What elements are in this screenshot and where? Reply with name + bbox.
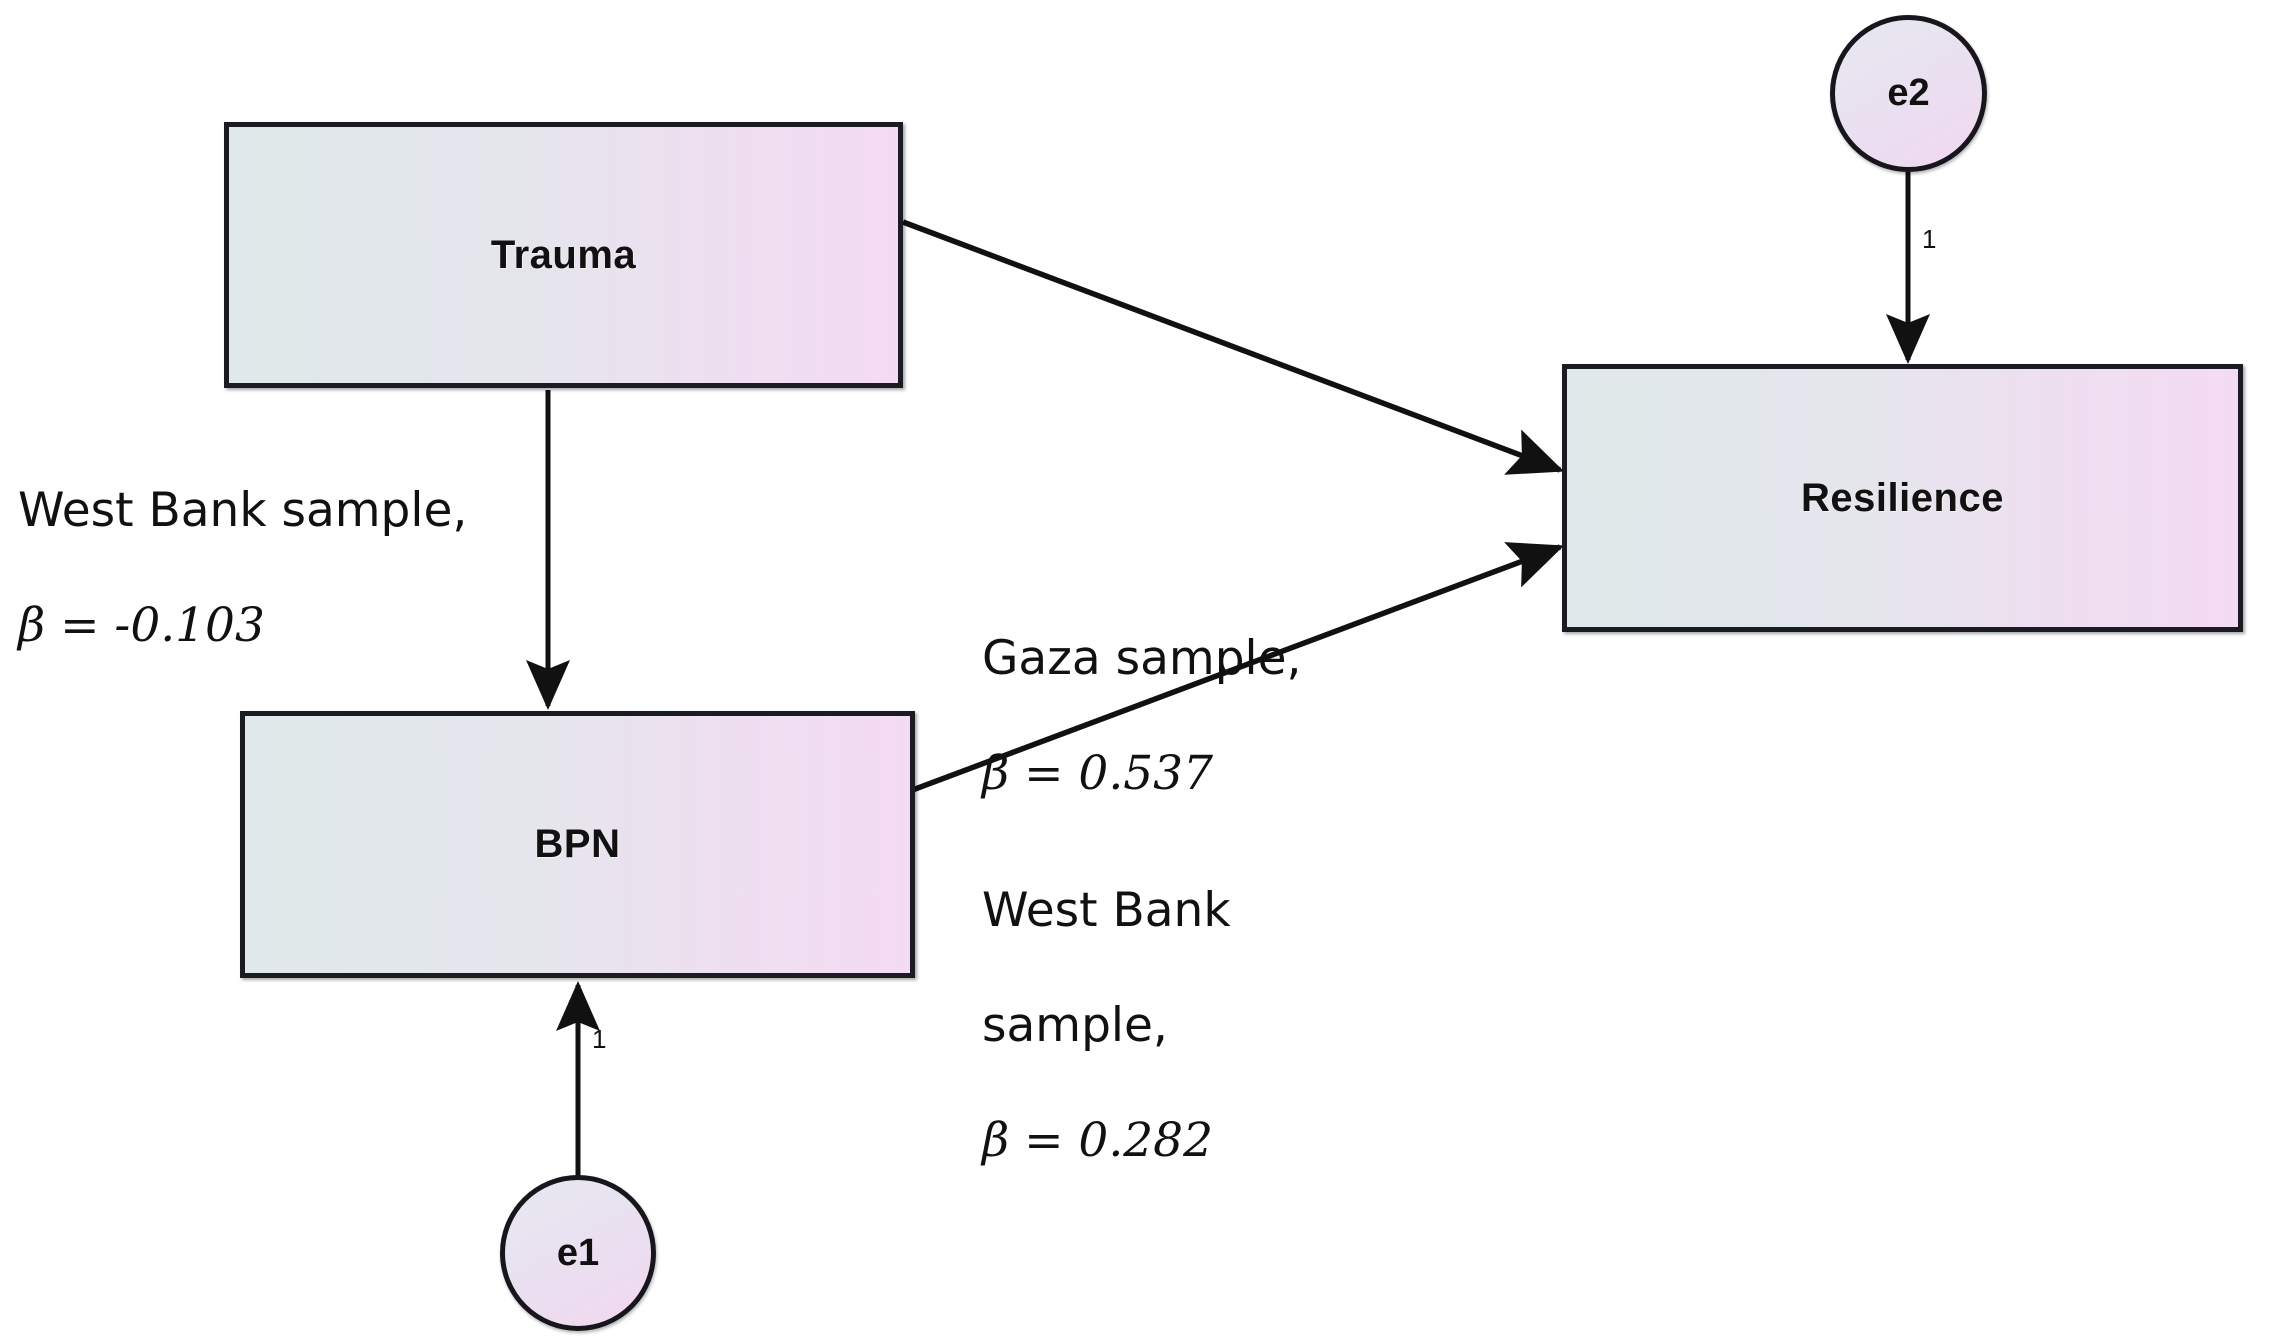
arrow-trauma-to-resilience — [903, 222, 1560, 470]
path-label-gaza-line2: β = 0.537 — [982, 745, 1402, 802]
node-resilience-label: Resilience — [1801, 476, 2004, 521]
path-label-westbank2-line3: β = 0.282 — [982, 1112, 1322, 1169]
path-label-westbank2-line2: sample, — [982, 997, 1322, 1054]
node-e1[interactable]: e1 — [500, 1175, 656, 1331]
path-label-bpn-to-resilience-gaza: Gaza sample, β = 0.537 — [982, 573, 1402, 860]
path-label-gaza-line1: Gaza sample, — [982, 630, 1402, 687]
path-label-trauma-to-bpn-line1: West Bank sample, — [18, 482, 578, 539]
weight-label-e2-to-resilience: 1 — [1922, 224, 1936, 255]
diagram-canvas: Trauma BPN Resilience e1 e2 West Bank sa… — [0, 0, 2281, 1341]
node-e2[interactable]: e2 — [1830, 15, 1987, 172]
node-bpn[interactable]: BPN — [240, 711, 915, 978]
node-resilience[interactable]: Resilience — [1562, 364, 2243, 632]
path-label-westbank2-line1: West Bank — [982, 882, 1322, 939]
weight-label-e1-to-bpn: 1 — [592, 1024, 606, 1055]
node-trauma[interactable]: Trauma — [224, 122, 903, 388]
node-bpn-label: BPN — [535, 822, 621, 867]
path-label-bpn-to-resilience-westbank: West Bank sample, β = 0.282 — [982, 825, 1322, 1226]
node-e2-label: e2 — [1887, 72, 1929, 115]
node-trauma-label: Trauma — [491, 233, 636, 278]
path-label-trauma-to-bpn: West Bank sample, β = -0.103 — [18, 425, 578, 712]
node-e1-label: e1 — [557, 1232, 599, 1275]
path-label-trauma-to-bpn-line2: β = -0.103 — [18, 597, 578, 654]
